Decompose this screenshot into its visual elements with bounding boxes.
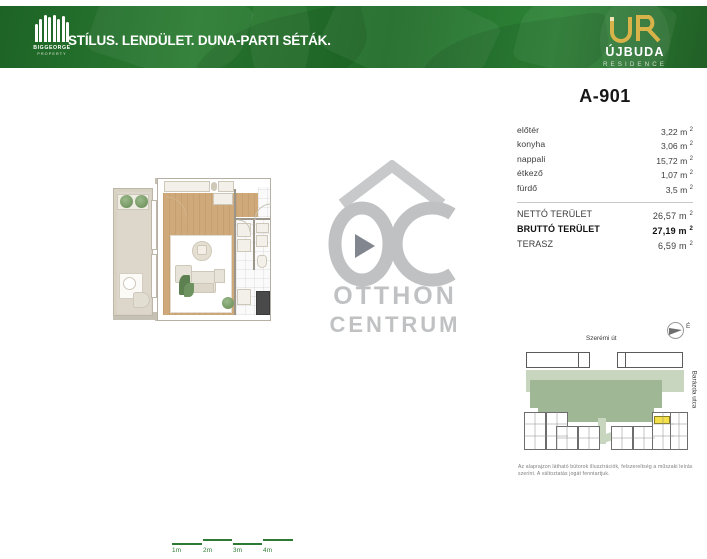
- scale-label: 2m: [203, 547, 212, 554]
- door-swings: [158, 179, 272, 322]
- floorplan-drawing: [113, 178, 271, 321]
- room-value: 3,22 m 2: [661, 124, 693, 138]
- room-value: 1,07 m 2: [661, 167, 693, 181]
- table-divider: [517, 202, 693, 203]
- ur-svg: [607, 15, 663, 43]
- area-table: előtér 3,22 m 2 konyha 3,06 m 2 nappali …: [517, 124, 693, 253]
- plant-icon: [135, 195, 148, 208]
- disclaimer-text: Az alaprajzon látható bútorok illusztrác…: [518, 464, 693, 479]
- room-label: előtér: [517, 124, 539, 138]
- window-glazing: [151, 254, 157, 298]
- interior-shell: [157, 178, 271, 321]
- biggeorge-sub: PROPERTY: [37, 52, 67, 56]
- biggeorge-bars-icon: [35, 15, 70, 42]
- table-row: NETTÓ TERÜLET 26,57 m 2: [517, 208, 693, 223]
- scale-segment: [172, 543, 202, 545]
- scale-segment: [233, 543, 262, 545]
- header-tagline: STÍLUS. LENDÜLET. DUNA-PARTI SÉTÁK.: [68, 33, 331, 48]
- total-value: 27,19 m 2: [652, 223, 693, 238]
- total-label: NETTÓ TERÜLET: [517, 208, 592, 223]
- biggeorge-name: BIGGEORGE: [33, 45, 70, 51]
- table-row: fürdő 3,5 m 2: [517, 182, 693, 196]
- site-map: Szerémi út Barázda utca É: [512, 326, 697, 451]
- room-label: nappali: [517, 153, 545, 167]
- terrace-table-top: [123, 277, 136, 290]
- terrace: [113, 188, 153, 316]
- table-row: nappali 15,72 m 2: [517, 153, 693, 167]
- window-glazing: [151, 200, 157, 250]
- total-value: 26,57 m 2: [653, 208, 693, 223]
- ujbuda-name: ÚJBUDA: [580, 45, 690, 59]
- floorplan-area: 1m 2m 3m 4m: [0, 78, 495, 478]
- table-row: előtér 3,22 m 2: [517, 124, 693, 138]
- scale-segment: [263, 539, 293, 541]
- terrace-chair: [133, 292, 150, 308]
- total-value: 6,59 m 2: [658, 238, 693, 253]
- page-header: BIGGEORGE PROPERTY STÍLUS. LENDÜLET. DUN…: [0, 6, 707, 68]
- table-row: TERASZ 6,59 m 2: [517, 238, 693, 253]
- scale-label: 4m: [263, 547, 272, 554]
- unit-title: A-901: [515, 86, 695, 107]
- table-row: étkező 1,07 m 2: [517, 167, 693, 181]
- total-label: BRUTTÓ TERÜLET: [517, 223, 600, 238]
- scale-segment: [203, 539, 232, 541]
- plant-icon: [120, 195, 133, 208]
- room-label: konyha: [517, 138, 545, 152]
- room-label: étkező: [517, 167, 543, 181]
- room-value: 3,06 m 2: [661, 138, 693, 152]
- scale-bar: 1m 2m 3m 4m: [172, 537, 294, 559]
- block-hatching: [512, 326, 697, 451]
- total-label: TERASZ: [517, 238, 553, 253]
- scale-label: 3m: [233, 547, 242, 554]
- room-label: fürdő: [517, 182, 537, 196]
- totals-group: NETTÓ TERÜLET 26,57 m 2 BRUTTÓ TERÜLET 2…: [517, 208, 693, 253]
- table-row: konyha 3,06 m 2: [517, 138, 693, 152]
- ujbuda-logo: ÚJBUDA RESIDENCE: [580, 14, 690, 68]
- room-value: 3,5 m 2: [666, 182, 693, 196]
- room-value: 15,72 m 2: [656, 153, 693, 167]
- table-row: BRUTTÓ TERÜLET 27,19 m 2: [517, 223, 693, 238]
- ujbuda-sub: RESIDENCE: [580, 61, 690, 68]
- ur-monogram-icon: [580, 14, 690, 44]
- scale-label: 1m: [172, 547, 181, 554]
